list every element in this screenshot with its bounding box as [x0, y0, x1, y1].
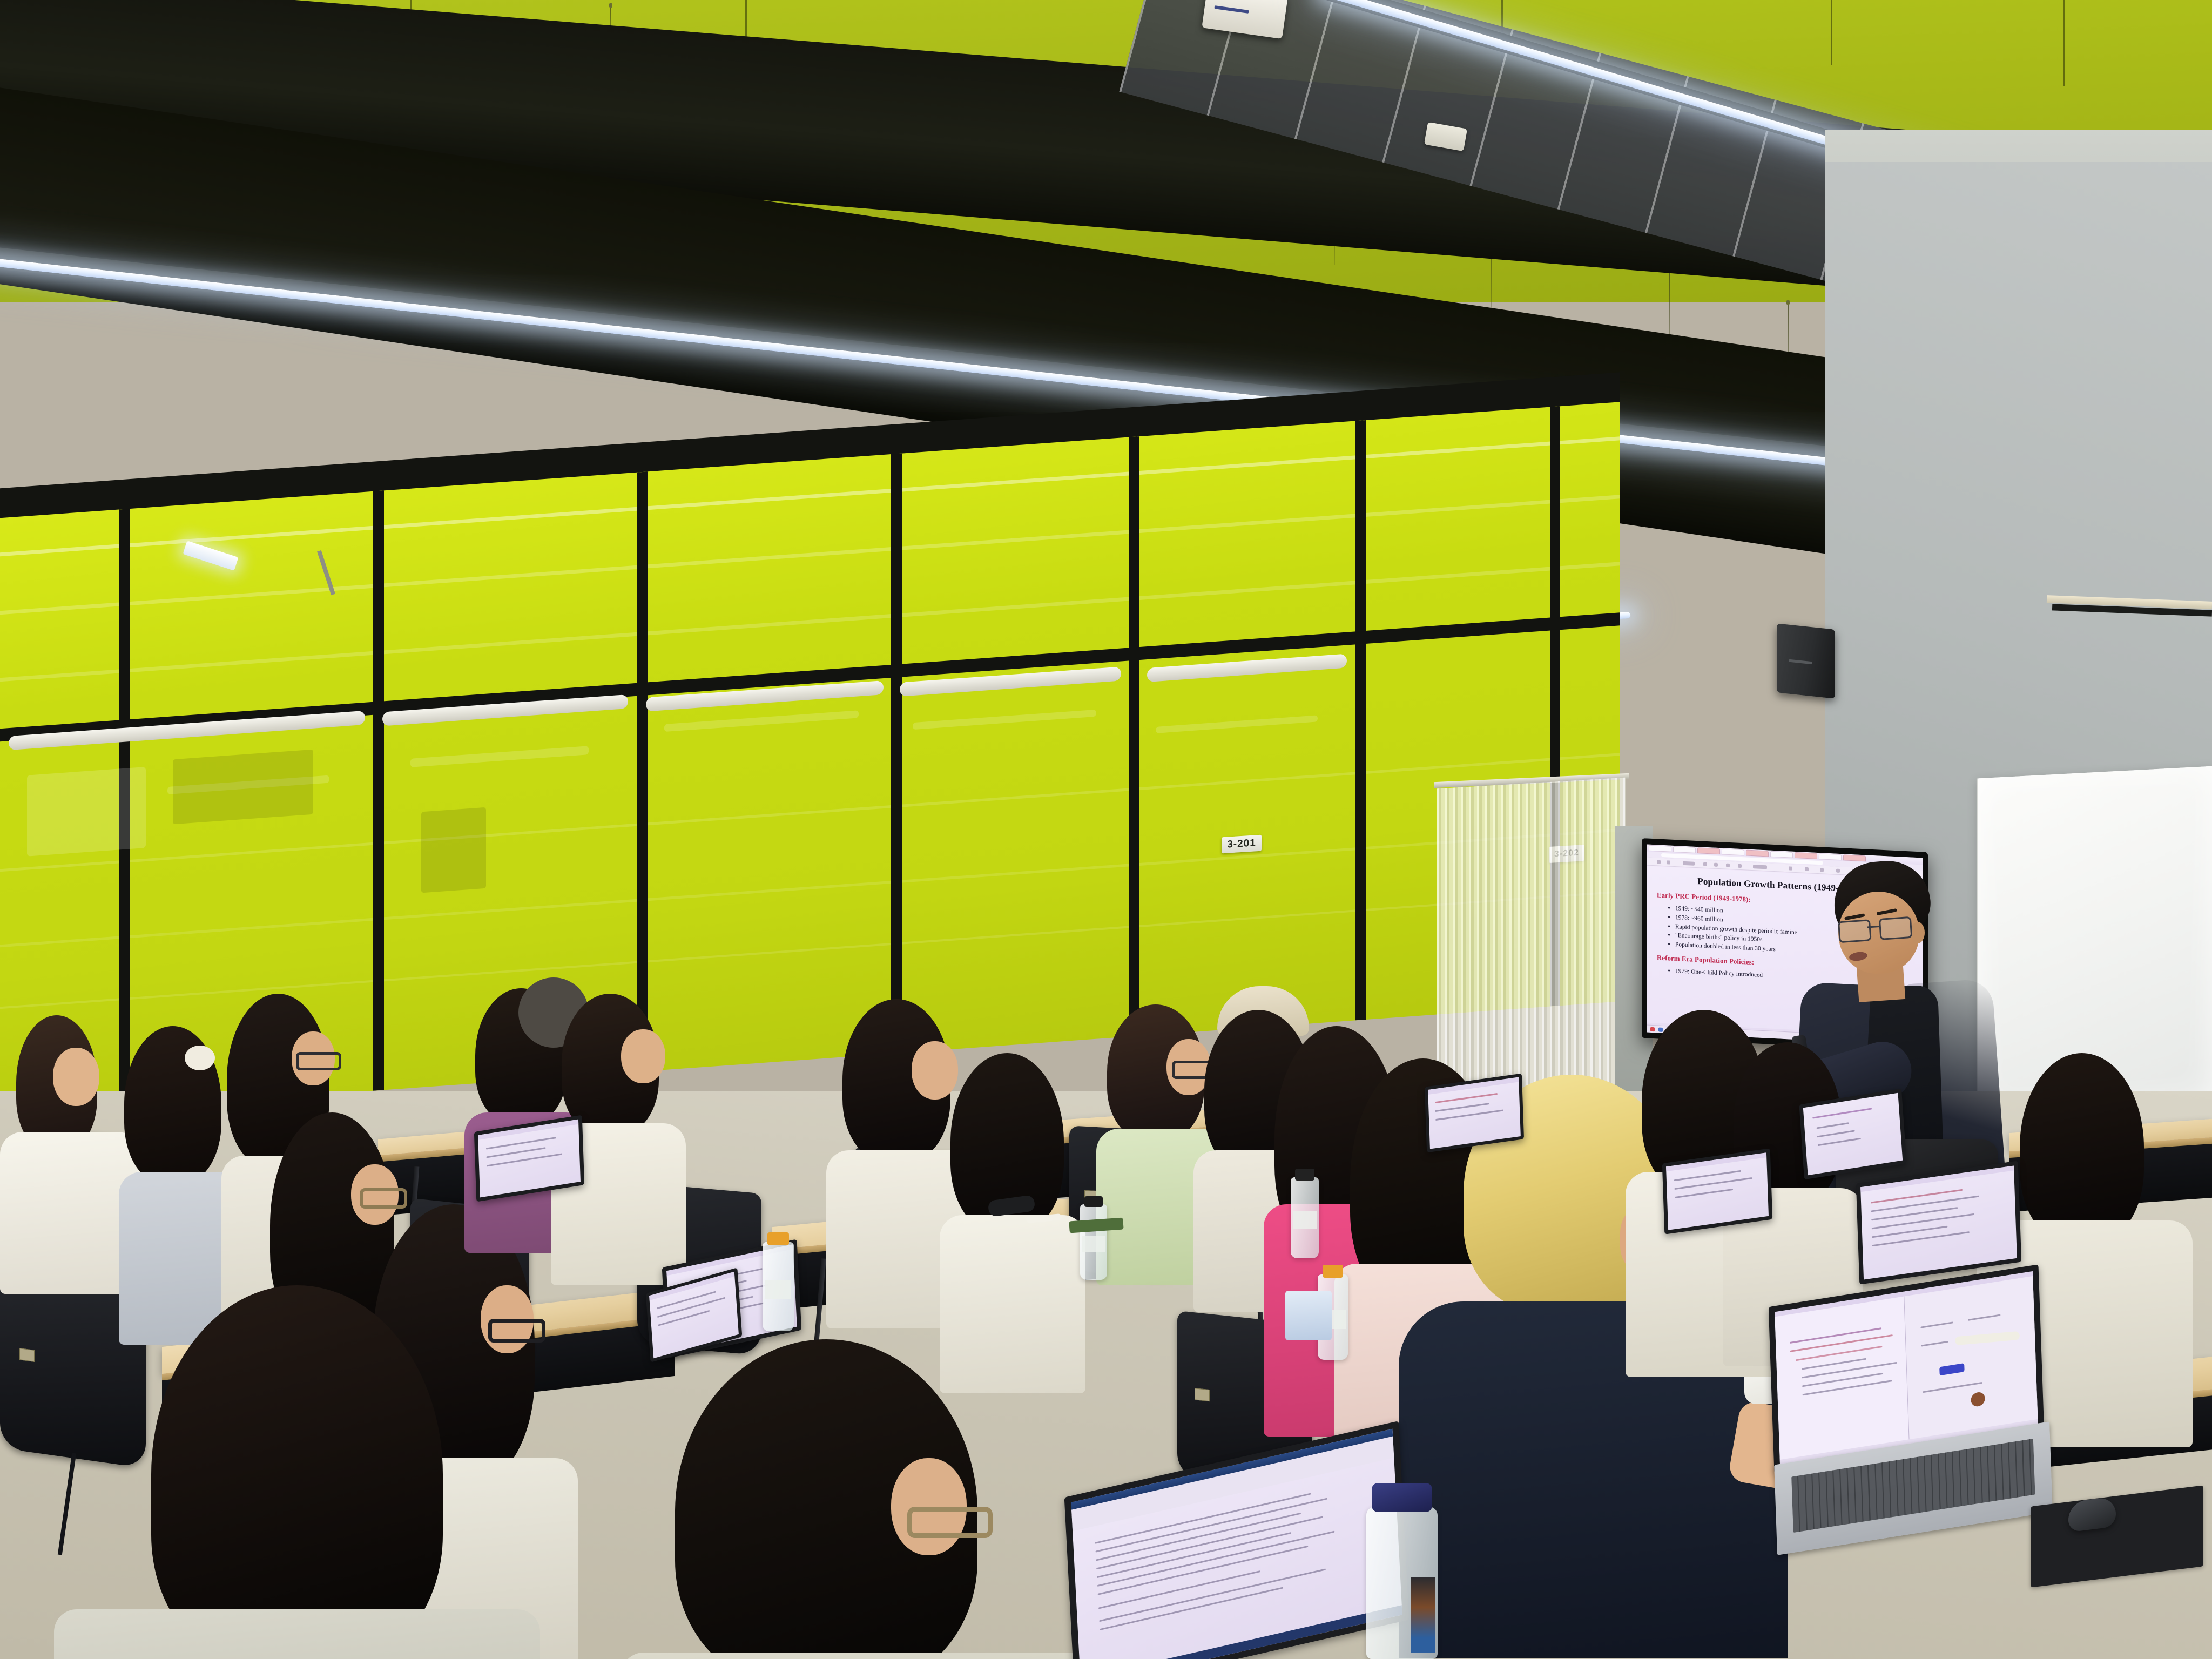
browser-tab[interactable] [1843, 854, 1866, 861]
window-curtain [1437, 778, 1626, 1124]
ceiling-seam [1831, 0, 1832, 65]
classroom-photo: 3-201 3-202 [0, 0, 2212, 1659]
milk-carton [1285, 1291, 1332, 1340]
browser-tab[interactable] [1649, 845, 1671, 852]
taskbar-icon[interactable] [1658, 1027, 1663, 1031]
browser-tab[interactable] [1746, 849, 1769, 857]
browser-tab[interactable] [1795, 852, 1817, 859]
hair-scrunchie [185, 1046, 215, 1070]
eyeglasses-icon [296, 1052, 341, 1070]
room-sign-3-201: 3-201 [1222, 835, 1262, 854]
browser-tab[interactable] [1722, 848, 1744, 855]
browser-tab[interactable] [1819, 853, 1842, 860]
browser-tab[interactable] [1697, 847, 1720, 854]
water-bottle-foreground [1366, 1507, 1438, 1659]
taskbar-icon[interactable] [1650, 1027, 1655, 1031]
eyeglasses-icon [360, 1188, 407, 1209]
water-bottle [1080, 1204, 1107, 1280]
browser-tab[interactable] [1673, 846, 1696, 853]
water-bottle [763, 1242, 794, 1331]
browser-tab[interactable] [1770, 851, 1793, 858]
eyeglasses-icon [488, 1319, 545, 1343]
water-bottle [1291, 1177, 1319, 1258]
wall-speaker [1777, 623, 1835, 698]
glass-partition-wall [0, 402, 1620, 1118]
eyeglasses-icon [907, 1507, 993, 1538]
ceiling-seam [2063, 0, 2065, 86]
